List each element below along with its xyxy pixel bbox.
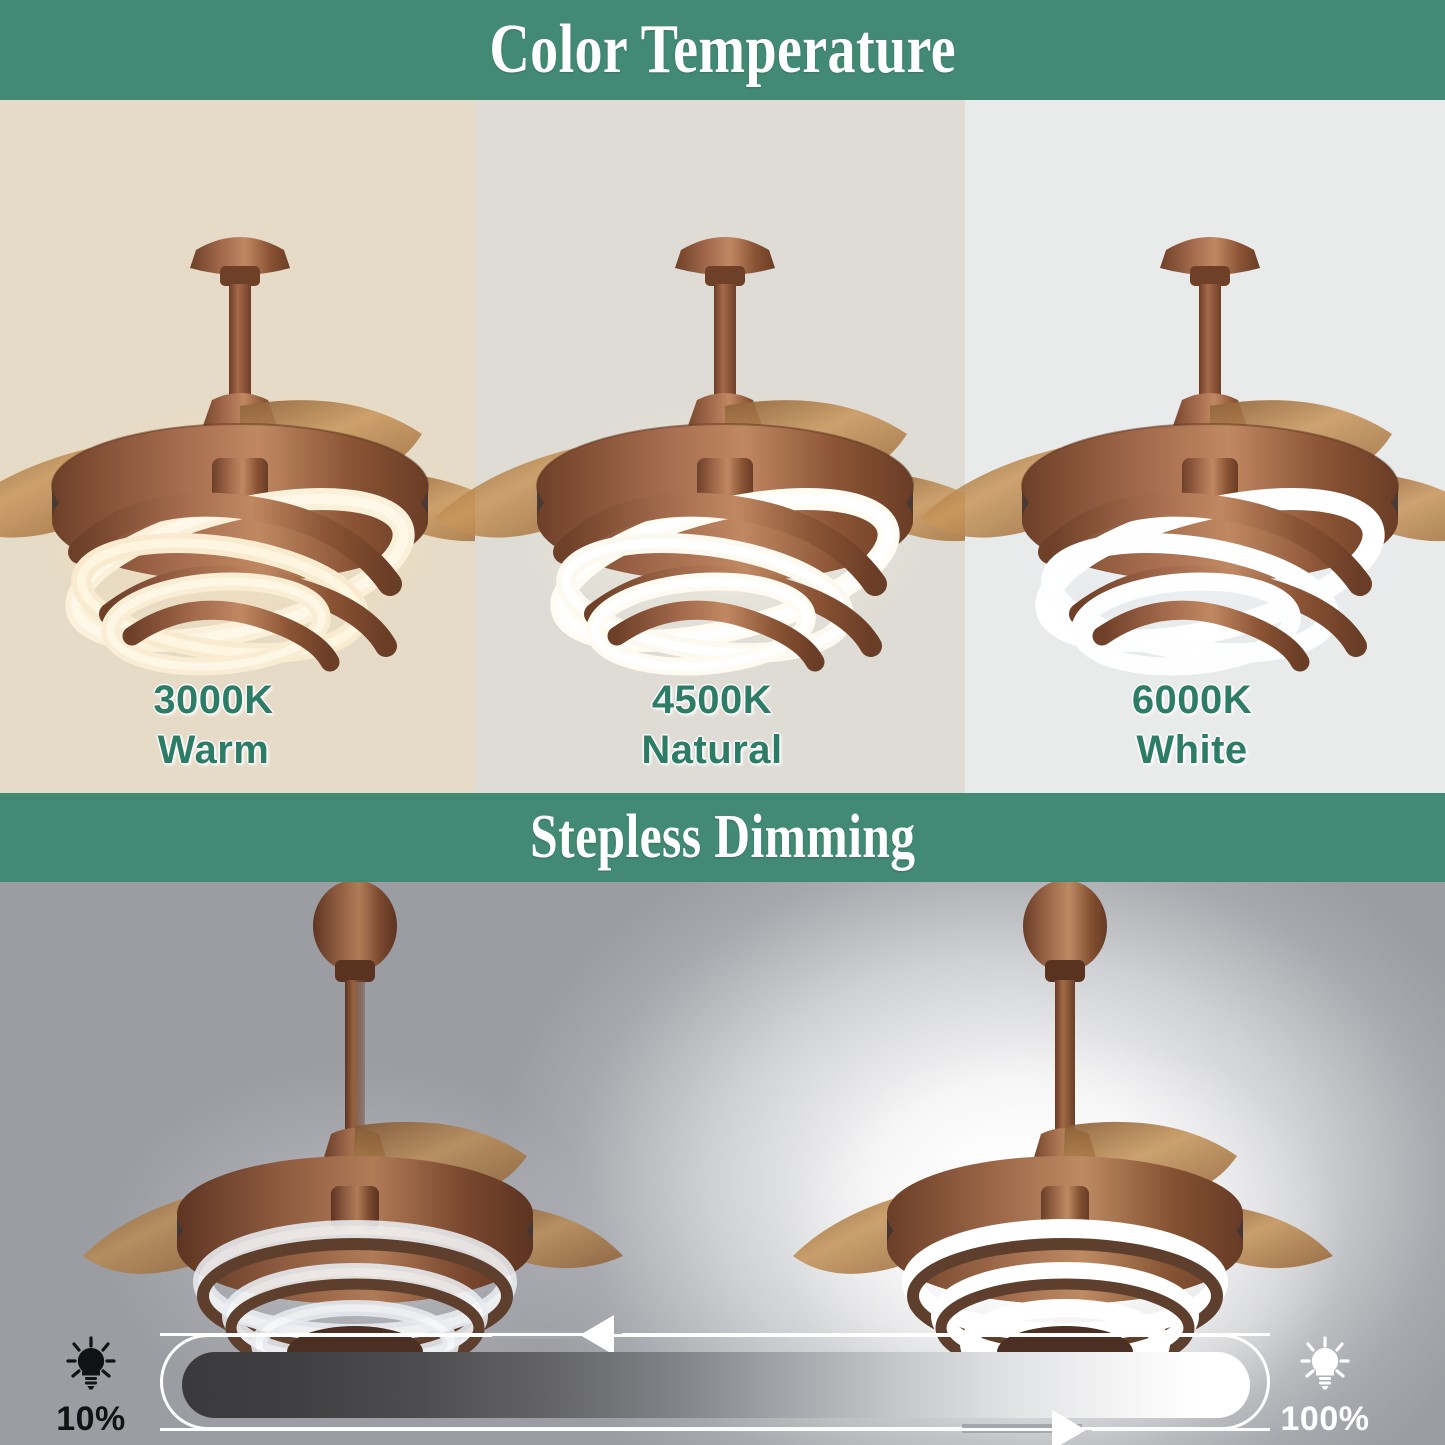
label-4500k: 4500K Natural — [475, 675, 965, 775]
label-3000k: 3000K Warm — [0, 675, 475, 775]
brightness-gradient-track[interactable] — [182, 1352, 1250, 1418]
color-temperature-panel-3000k: 3000K Warm — [0, 100, 475, 793]
ceiling-fan-4500k — [425, 200, 1025, 680]
decrease-track-line — [160, 1333, 592, 1336]
ceiling-fan-bright — [765, 882, 1385, 1384]
increase-track-line — [1092, 1428, 1270, 1431]
arrow-right-icon[interactable] — [1052, 1410, 1086, 1445]
color-temperature-header: Color Temperature — [0, 0, 1445, 100]
color-temperature-panel-6000k: 6000K White — [965, 100, 1445, 793]
color-temperature-panel-4500k: 4500K Natural — [475, 100, 965, 793]
product-feature-image: Color Temperature — [0, 0, 1445, 1445]
ceiling-fan-3000k — [0, 200, 540, 680]
ceiling-fan-6000k — [910, 200, 1445, 680]
arrow-left-icon[interactable] — [580, 1315, 614, 1355]
increase-track-line — [160, 1428, 1060, 1431]
label-6000k: 6000K White — [965, 675, 1445, 775]
stepless-dimming-title: Stepless Dimming — [530, 802, 915, 873]
stepless-dimming-header: Stepless Dimming — [0, 793, 1445, 882]
color-temperature-title: Color Temperature — [489, 10, 956, 90]
brightness-slider[interactable] — [62, 1338, 1382, 1436]
ceiling-fan-dim — [55, 882, 675, 1384]
color-temperature-section: 3000K Warm — [0, 100, 1445, 793]
decrease-track-line — [622, 1333, 1270, 1336]
